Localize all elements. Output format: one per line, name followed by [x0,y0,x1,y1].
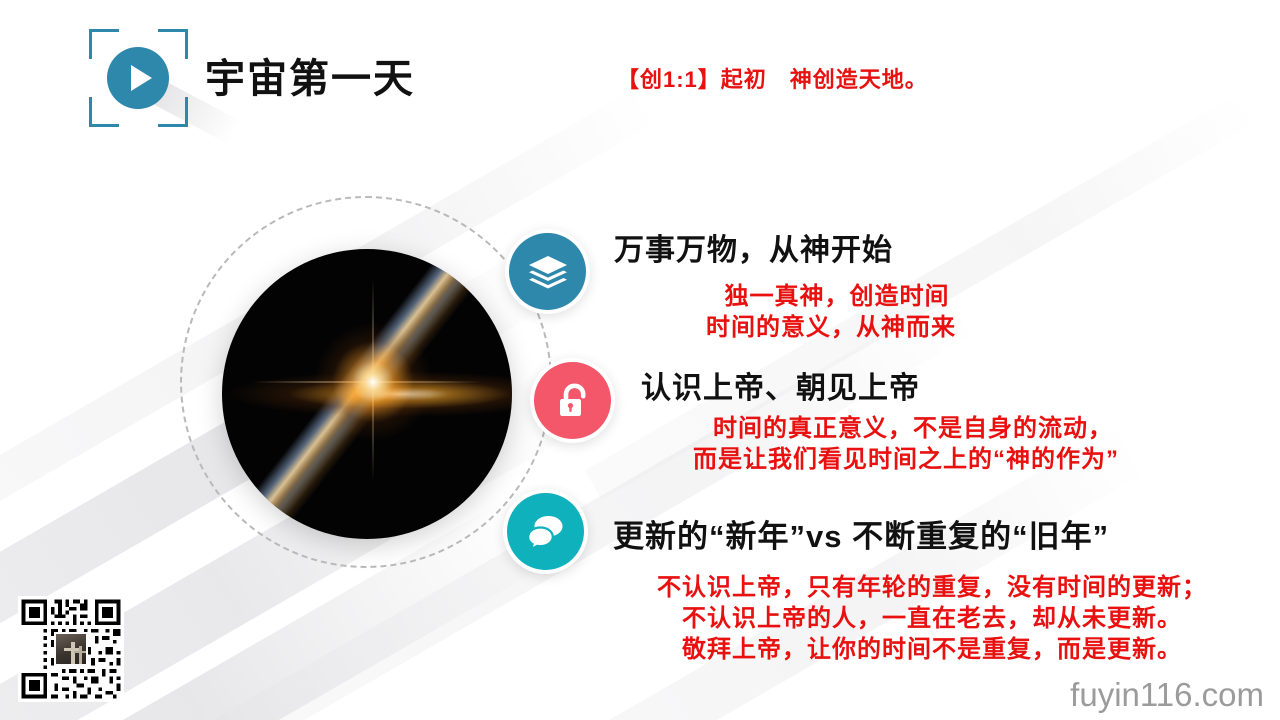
unlock-icon-glyph [555,381,591,421]
section-lines-3: 不认识上帝，只有年轮的重复，没有时间的更新； 不认识上帝的人，一直在老去，却从未… [657,572,1207,666]
speech-bubbles-icon[interactable] [503,489,588,574]
section-line: 敬拜上帝，让你的时间不是重复，而是更新。 [657,634,1207,665]
section-heading-1: 万事万物，从神开始 [614,225,893,269]
hero-image-earth-sunrise [222,249,512,539]
section-heading-2: 认识上帝、朝见上帝 [641,363,920,407]
layers-icon-glyph [528,254,568,290]
play-triangle-icon [131,65,152,91]
page-title: 宇宙第一天 [205,46,415,104]
section-line: 不认识上帝的人，一直在老去，却从未更新。 [657,603,1207,634]
section-lines-2: 时间的真正意义，不是自身的流动， 而是让我们看见时间之上的“神的作为” [707,413,1119,475]
play-button-icon [107,47,169,109]
section-line: 而是让我们看见时间之上的“神的作为” [693,444,1119,475]
speech-bubbles-icon-glyph [526,513,566,551]
section-line: 时间的真正意义，不是自身的流动， [707,413,1119,444]
qr-code[interactable] [18,596,124,702]
section-line: 不认识上帝，只有年轮的重复，没有时间的更新； [657,572,1207,603]
layers-icon[interactable] [505,229,590,314]
qr-center-logo [54,632,88,666]
section-lines-1: 独一真神，创造时间 时间的意义，从神而来 [718,281,956,343]
site-watermark: fuyin116.com [1070,676,1264,714]
brand-logo [89,29,188,127]
slide-canvas: 宇宙第一天 【创1:1】起初 神创造天地。 万事 [0,0,1280,720]
section-line: 时间的意义，从神而来 [706,312,956,343]
section-heading-3: 更新的“新年”vs 不断重复的“旧年” [613,511,1109,556]
section-line: 独一真神，创造时间 [718,281,956,312]
verse-reference: 【创1:1】起初 神创造天地。 [617,62,928,94]
unlock-icon[interactable] [530,358,615,443]
